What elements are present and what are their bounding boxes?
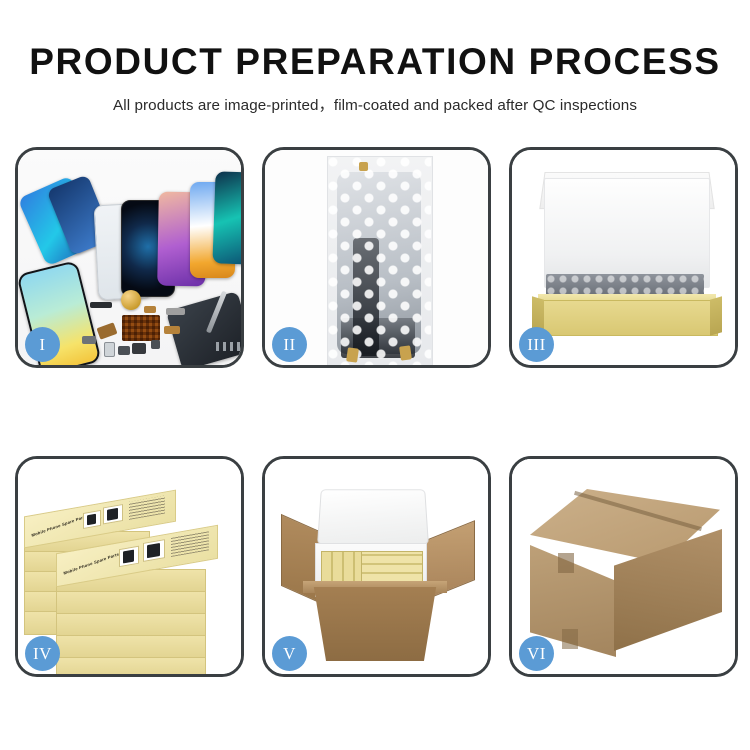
bubble-texture-icon (327, 156, 431, 365)
box-spec-lines-icon (129, 496, 165, 520)
stacked-box-icon (56, 613, 206, 637)
box-window-phone-icon (147, 543, 160, 558)
box-window-icon (83, 510, 101, 529)
part-icon (118, 346, 130, 355)
step-badge-1: I (25, 327, 60, 362)
part-icon (104, 342, 115, 357)
process-step-panel-4[interactable]: Mobile Phone Spare Parts Mobile Phone Sp… (15, 456, 244, 677)
box-window-icon (119, 546, 139, 568)
box-spec-lines-icon (171, 530, 209, 557)
part-icon (132, 343, 146, 354)
foam-box-lid-icon (317, 489, 429, 544)
box-window-icon (103, 504, 123, 525)
page-title: PRODUCT PREPARATION PROCESS (0, 0, 750, 82)
box-label-text: Mobile Phone Spare Parts (31, 513, 87, 537)
step-badge-3: III (519, 327, 554, 362)
tape-tab-icon (359, 162, 368, 171)
part-icon (164, 326, 180, 334)
process-step-panel-1[interactable]: I (15, 147, 244, 368)
gold-coil-part-icon (121, 290, 141, 310)
step-badge-6: VI (519, 636, 554, 671)
page-subtitle: All products are image-printed，film-coat… (0, 82, 750, 115)
carton-front-icon (307, 587, 443, 661)
yellow-box-body-icon (538, 300, 718, 336)
stacked-box-icon (56, 657, 206, 674)
step-badge-4: IV (25, 636, 60, 671)
process-step-panel-2[interactable]: II (262, 147, 491, 368)
screws-icon (216, 342, 241, 351)
box-window-icon (143, 539, 165, 562)
white-foam-sheet-icon (544, 178, 710, 288)
part-icon (82, 336, 96, 344)
tape-tab-icon (346, 347, 359, 362)
page-header: PRODUCT PREPARATION PROCESS All products… (0, 0, 750, 115)
part-icon (151, 340, 160, 349)
teal-phone-icon (212, 171, 241, 264)
chip-board-part-icon (122, 315, 160, 341)
process-step-panel-5[interactable]: V (262, 456, 491, 677)
part-icon (96, 322, 117, 339)
box-label-text: Mobile Phone Spare Parts (63, 551, 119, 575)
process-step-panel-3[interactable]: III (509, 147, 738, 368)
stacked-box-icon (56, 591, 206, 615)
box-side-right-icon (710, 296, 722, 335)
process-step-grid: I II (15, 147, 738, 677)
process-step-panel-6[interactable]: VI (509, 456, 738, 677)
box-window-phone-icon (107, 508, 118, 521)
step-badge-2: II (272, 327, 307, 362)
tape-tab-icon (399, 345, 412, 360)
carton-tape-icon (562, 629, 578, 649)
box-window-phone-icon (123, 550, 134, 564)
step-badge-5: V (272, 636, 307, 671)
stacked-box-icon (56, 635, 206, 659)
part-icon (144, 306, 156, 313)
part-icon (166, 308, 185, 315)
part-icon (90, 302, 112, 308)
carton-tape-icon (558, 553, 574, 573)
box-window-phone-icon (87, 514, 96, 526)
